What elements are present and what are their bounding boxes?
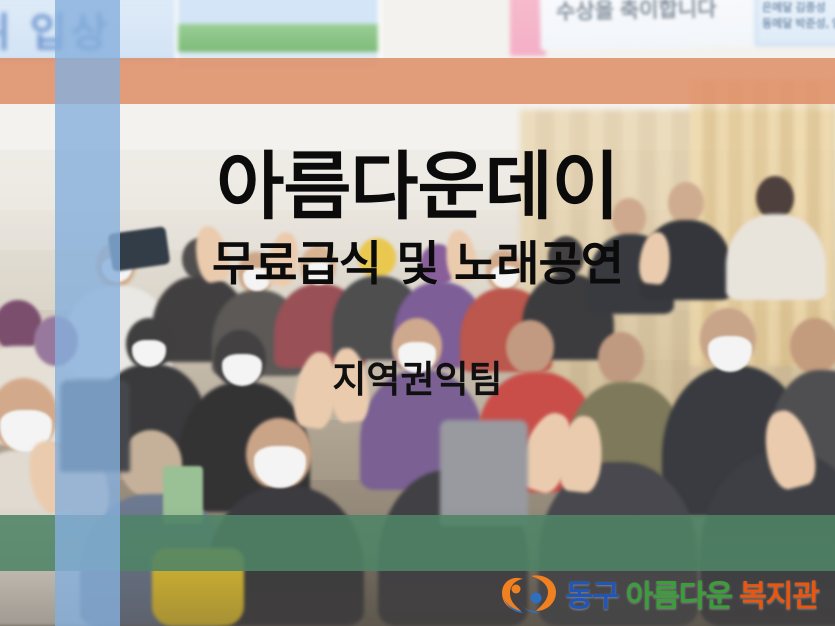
- logo-word-areumdaun: 아름다운: [626, 571, 732, 615]
- logo-word-donggu: 동구: [566, 571, 619, 615]
- poster-root: 위 입상 수상을 축이합니다 은메달 김종성 동메달 박준성, 양수영: [0, 0, 835, 626]
- logo-word-bokjigwan: 복지관: [739, 571, 819, 615]
- logo-wordmark: 동구 아름다운 복지관: [566, 571, 819, 615]
- organization-logo: 동구 아름다운 복지관: [501, 566, 819, 620]
- orange-band: [0, 58, 835, 104]
- swirl-person-logo-icon: [501, 571, 557, 615]
- green-band: [0, 515, 835, 571]
- blue-vertical-stripe: [55, 0, 120, 626]
